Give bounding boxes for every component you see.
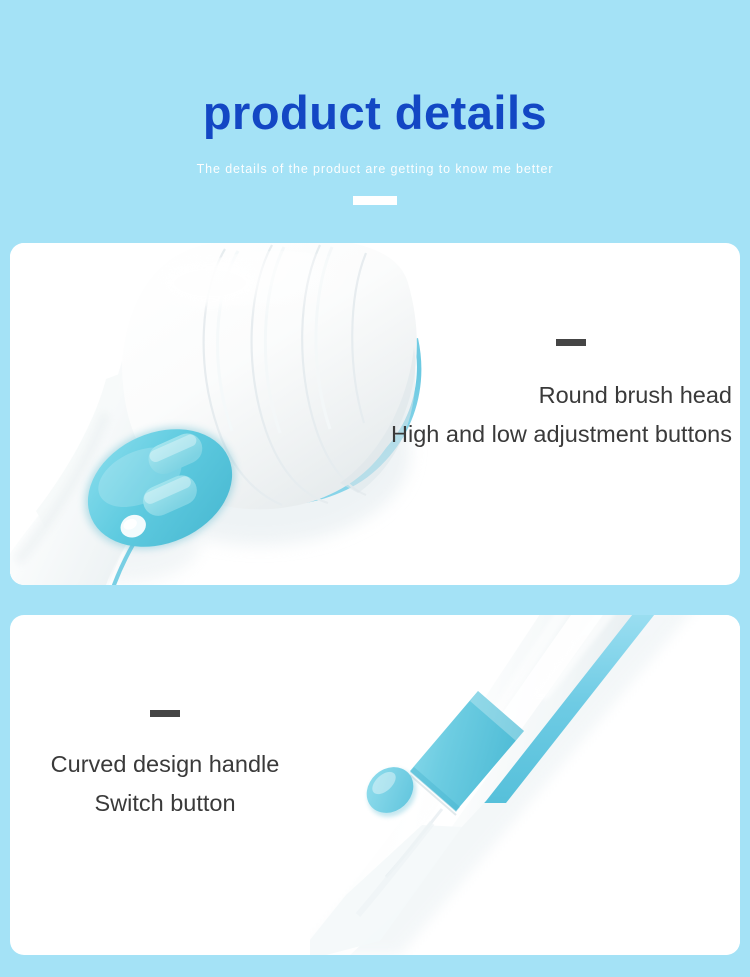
feature-line-2-1: Curved design handle [30,745,300,784]
page-header: product details The details of the produ… [0,0,750,243]
page-title: product details [0,89,750,136]
feature-text-block-1: Round brush head High and low adjustment… [391,339,732,454]
feature-line-1-2: High and low adjustment buttons [391,415,732,454]
feature-card-handle: Curved design handle Switch button [10,615,740,955]
accent-dash-2 [150,710,180,717]
accent-dash-1 [556,339,586,346]
feature-line-2-2: Switch button [30,784,300,823]
header-divider [353,196,397,205]
feature-line-1-1: Round brush head [391,376,732,415]
brush-head-illustration [10,243,440,585]
feature-text-block-2: Curved design handle Switch button [30,710,300,823]
feature-card-brush-head: Round brush head High and low adjustment… [10,243,740,585]
page-subtitle: The details of the product are getting t… [0,162,750,176]
handle-illustration [310,615,740,955]
handle-image [310,615,740,955]
brush-head-image [10,243,440,585]
product-details-page: product details The details of the produ… [0,0,750,977]
